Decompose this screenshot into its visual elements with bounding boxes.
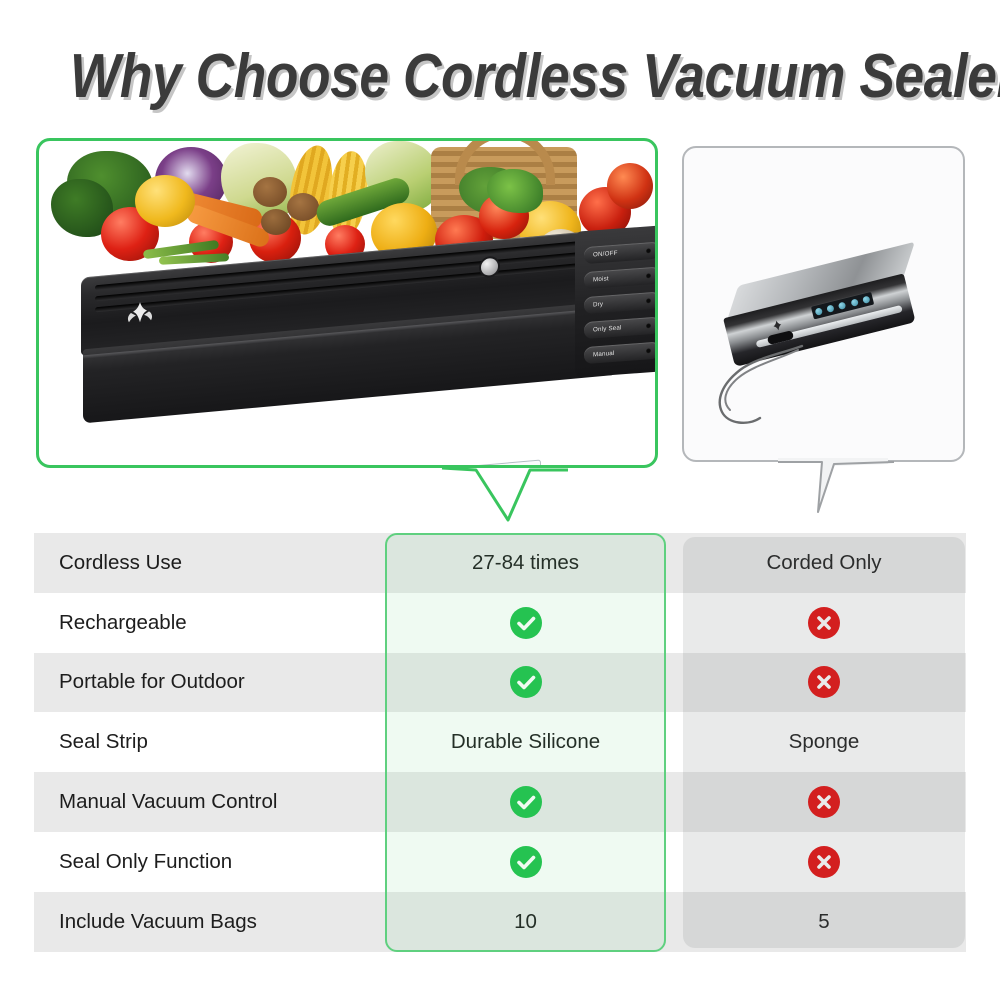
cordless-vacuum-sealer-photo: ON/OFF Moist Dry Only Seal Manual bbox=[36, 138, 658, 468]
feature-label: Manual Vacuum Control bbox=[34, 790, 385, 814]
display-button-icon[interactable] bbox=[850, 298, 858, 306]
device-button-label: Only Seal bbox=[593, 324, 622, 333]
cordless-value bbox=[385, 786, 666, 818]
cordless-value bbox=[385, 666, 666, 698]
device-button-on-off[interactable]: ON/OFF bbox=[584, 242, 658, 265]
feature-label: Portable for Outdoor bbox=[34, 670, 385, 694]
corded-value bbox=[683, 666, 965, 698]
apple-icon bbox=[607, 163, 653, 209]
corded-value: Corded Only bbox=[683, 551, 965, 575]
cordless-value bbox=[385, 846, 666, 878]
corded-value bbox=[683, 607, 965, 639]
callout-tail-corded bbox=[776, 456, 896, 528]
power-cord bbox=[706, 344, 826, 434]
led-indicator-icon bbox=[646, 348, 651, 353]
table-row: Portable for Outdoor bbox=[34, 653, 966, 713]
x-circle-icon bbox=[808, 607, 840, 639]
feature-label: Seal Strip bbox=[34, 730, 385, 754]
table-row: Seal Strip Durable Silicone Sponge bbox=[34, 712, 966, 772]
device-button-only-seal[interactable]: Only Seal bbox=[584, 317, 658, 340]
cordless-value bbox=[385, 607, 666, 639]
device-button-label: Moist bbox=[593, 275, 609, 283]
corded-value: Sponge bbox=[683, 730, 965, 754]
led-indicator-icon bbox=[646, 248, 651, 253]
bell-pepper-icon bbox=[135, 175, 195, 227]
mushroom-icon bbox=[253, 177, 287, 207]
device-button-label: Manual bbox=[593, 350, 615, 359]
cordless-value: 27-84 times bbox=[385, 551, 666, 575]
corded-value bbox=[683, 846, 965, 878]
table-row: Manual Vacuum Control bbox=[34, 772, 966, 832]
x-circle-icon bbox=[808, 666, 840, 698]
sealer-control-panel: ON/OFF Moist Dry Only Seal Manual bbox=[575, 225, 658, 378]
infographic-page: Why Choose Cordless Vacuum Sealer? bbox=[0, 0, 1000, 1000]
led-indicator-icon bbox=[646, 273, 651, 278]
table-row: Seal Only Function bbox=[34, 832, 966, 892]
table-row: Rechargeable bbox=[34, 593, 966, 653]
brand-logo-icon bbox=[767, 317, 787, 333]
check-circle-icon bbox=[510, 786, 542, 818]
callout-tail-cordless bbox=[440, 462, 570, 532]
device-button-label: Dry bbox=[593, 301, 603, 309]
led-indicator-icon bbox=[646, 323, 651, 328]
feature-label: Seal Only Function bbox=[34, 850, 385, 874]
corded-value bbox=[683, 786, 965, 818]
check-circle-icon bbox=[510, 666, 542, 698]
table-row: Include Vacuum Bags 10 5 bbox=[34, 892, 966, 952]
cordless-value: 10 bbox=[385, 910, 666, 934]
display-button-icon[interactable] bbox=[862, 295, 870, 303]
display-button-icon[interactable] bbox=[814, 307, 822, 315]
feature-label: Include Vacuum Bags bbox=[34, 910, 385, 934]
mushroom-icon bbox=[261, 209, 291, 235]
display-button-icon[interactable] bbox=[826, 304, 834, 312]
feature-label: Rechargeable bbox=[34, 611, 385, 635]
led-indicator-icon bbox=[646, 298, 651, 303]
check-circle-icon bbox=[510, 607, 542, 639]
cordless-value: Durable Silicone bbox=[385, 730, 666, 754]
device-button-moist[interactable]: Moist bbox=[584, 267, 658, 290]
brand-logo-icon bbox=[125, 299, 155, 328]
feature-label: Cordless Use bbox=[34, 551, 385, 575]
page-title: Why Choose Cordless Vacuum Sealer? bbox=[70, 44, 930, 109]
comparison-table: Cordless Use 27-84 times Corded Only Rec… bbox=[34, 533, 966, 952]
x-circle-icon bbox=[808, 786, 840, 818]
corded-vacuum-sealer-photo bbox=[682, 146, 965, 462]
x-circle-icon bbox=[808, 846, 840, 878]
check-circle-icon bbox=[510, 846, 542, 878]
table-row: Cordless Use 27-84 times Corded Only bbox=[34, 533, 966, 593]
device-button-dry[interactable]: Dry bbox=[584, 292, 658, 315]
display-button-icon[interactable] bbox=[838, 301, 846, 309]
device-button-manual[interactable]: Manual bbox=[584, 342, 658, 365]
device-button-label: ON/OFF bbox=[593, 250, 618, 259]
corded-value: 5 bbox=[683, 910, 965, 934]
mushroom-icon bbox=[287, 193, 319, 221]
